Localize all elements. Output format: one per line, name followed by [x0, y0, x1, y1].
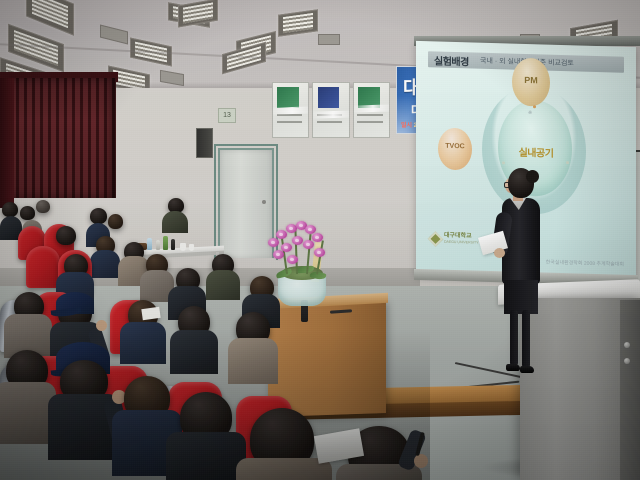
audience-seating-area [0, 196, 420, 480]
certificate-frame [272, 82, 309, 138]
audience-member-body [120, 322, 166, 364]
baseball-cap [56, 292, 94, 314]
podium-control-knob[interactable] [624, 342, 630, 348]
presenter-leg [522, 310, 530, 368]
presenter-shoe [520, 366, 534, 373]
slide-annotation: ※ [528, 110, 532, 116]
particulate-matter-label: PM [512, 75, 550, 86]
audience-member-head [36, 200, 50, 213]
slide-title: 실험배경 [434, 52, 469, 68]
audience-member-body [206, 270, 240, 300]
audience-member-hand [96, 320, 107, 331]
glass-glare [353, 104, 390, 113]
ceiling-air-vent [100, 25, 128, 45]
presenter-leg [510, 310, 518, 366]
ceiling-light-fixture [178, 0, 218, 28]
ceiling-light-fixture [26, 0, 74, 36]
ceiling-air-vent [318, 34, 340, 45]
certificate-header-band [318, 87, 340, 108]
certificate-frame [353, 82, 390, 138]
presenter [492, 168, 562, 386]
certificate-header-band [277, 87, 299, 108]
slide-accent-dot [533, 105, 536, 108]
audience-member-head [90, 208, 107, 224]
curtain-side-fold [0, 78, 14, 208]
ceiling-light-fixture [278, 9, 318, 37]
audience-member-body [166, 432, 246, 480]
audience-member-head [2, 202, 18, 217]
slide-center-label: 실내공기 [512, 144, 560, 160]
audience-member-body [170, 330, 218, 374]
presenter-hand [494, 248, 505, 258]
presenter-skirt [504, 280, 538, 314]
audience-member-head [108, 214, 123, 229]
room-number-sign: 13 [218, 108, 236, 123]
slide-accent-dot [566, 161, 569, 164]
podium-side-panel [620, 300, 640, 480]
ceiling-air-vent [160, 70, 184, 86]
audience-member-body [90, 250, 120, 278]
audience-member-body [228, 338, 278, 384]
presenter-shoe [506, 364, 520, 371]
audience-member-hand [414, 454, 428, 468]
theater-seat[interactable] [26, 246, 60, 288]
wall-speaker [196, 128, 213, 158]
glass-glare [272, 106, 309, 115]
tvoc-label: TVOC [438, 143, 472, 151]
glass-glare [312, 110, 349, 119]
logo-text: 대구대학교 DAEGU UNIVERSITY [444, 233, 478, 246]
logo-diamond-icon [428, 231, 444, 247]
stage-curtain [0, 78, 116, 198]
lecture-hall-photo: 13 대구 대 일시 2008. 11. 실험배경 국내 · 외 실내환경기준 … [0, 0, 640, 480]
audience-member-head [20, 206, 35, 220]
podium-control-knob[interactable] [624, 358, 630, 364]
audience-member-head [56, 226, 76, 245]
audience-member-body [162, 211, 188, 233]
presenter-hair-bun [526, 170, 539, 183]
slide-accent-dot [502, 161, 505, 164]
wall-certificates [272, 82, 390, 138]
certificate-frame [312, 82, 349, 138]
